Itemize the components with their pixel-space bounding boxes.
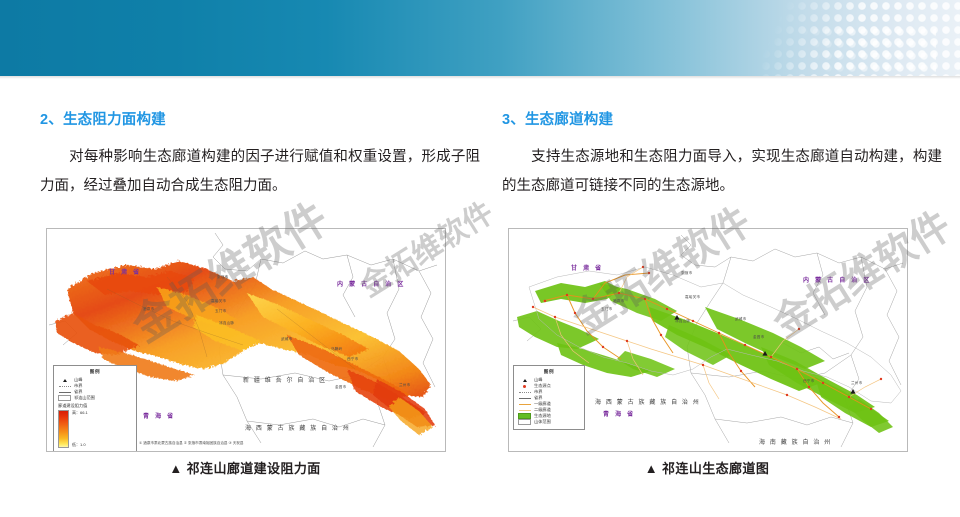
legend-color-ramp: 高：66.1 低：1.0 <box>58 410 132 448</box>
place-label: 乌鞘岭 <box>331 347 342 352</box>
region-label: 青 海 省 <box>143 411 175 420</box>
place-label: 金昌市 <box>753 335 764 340</box>
region-label: 海 西 蒙 古 族 藏 族 自 治 州 <box>245 423 350 432</box>
dashed-boundary-icon <box>58 386 71 387</box>
place-label: 张掖市 <box>217 275 228 280</box>
legend-title: 图例 <box>58 369 132 375</box>
section-right: 3、生态廊道构建 支持生态源地和生态阻力面导入，实现生态廊道自动构建，构建的生态… <box>502 112 942 201</box>
legend-item-label: 祁连山范围 <box>74 395 95 401</box>
caption-resistance-map: ▲ 祁连山廊道建设阻力面 <box>46 458 444 477</box>
place-label: 嘉峪关市 <box>211 299 226 304</box>
corridor-level2-icon <box>518 410 531 411</box>
place-label: 武威市 <box>735 317 746 322</box>
legend-title: 图例 <box>518 369 580 375</box>
map-legend-corridor: 图例 山峰 生态源点 市界 省界 一级廊道 二级廊道 生态源地 <box>513 365 585 430</box>
place-label: 张掖市 <box>681 271 692 276</box>
place-label: 嘉峪关市 <box>685 295 700 300</box>
map-legend-resistance: 图例 山峰 市界 省界 祁连山范围 廊道建设阻力值 高：66.1 低：1.0 <box>53 365 137 452</box>
region-label: 新 疆 维 吾 尔 自 治 区 <box>243 375 327 384</box>
map-resistance-surface[interactable]: 甘 肃 省 内 蒙 古 自 治 区 青 海 省 新 疆 维 吾 尔 自 治 区 … <box>46 228 446 452</box>
place-label: 兰州市 <box>851 381 862 386</box>
place-label: 祁连山脉 <box>219 321 234 326</box>
legend-item: 祁连山范围 <box>58 395 132 401</box>
eco-source-point-icon <box>518 385 531 388</box>
place-label: 西宁市 <box>803 379 814 384</box>
region-label: 内 蒙 古 自 治 区 <box>337 279 406 288</box>
solid-boundary-icon <box>58 392 71 393</box>
section-title-corridor: 3、生态廊道构建 <box>502 112 942 129</box>
section-body-resistance: 对每种影响生态廊道构建的因子进行赋值和权重设置，形成子阻力面，经过叠加自动合成生… <box>40 143 480 201</box>
section-body-text: 支持生态源地和生态阻力面导入，实现生态廊道自动构建，构建的生态廊道可链接不同的生… <box>502 149 942 194</box>
place-label: 金昌市 <box>335 385 346 390</box>
place-label: 玉门市 <box>601 307 612 312</box>
map-ecological-corridor[interactable]: 甘 肃 省 内 蒙 古 自 治 区 青 海 省 海 西 蒙 古 族 藏 族 自 … <box>508 228 908 452</box>
region-label: 海 西 蒙 古 族 藏 族 自 治 州 <box>595 397 700 406</box>
legend-item: 山体范围 <box>518 419 580 425</box>
halftone-dot-pattern-secondary-icon <box>786 26 936 76</box>
caption-corridor-map: ▲ 祁连山生态廊道图 <box>508 458 906 477</box>
place-label: 酒泉市 <box>613 299 624 304</box>
legend-ramp-title: 廊道建设阻力值 <box>58 403 132 408</box>
section-title-resistance: 2、生态阻力面构建 <box>40 112 480 129</box>
region-label: 内 蒙 古 自 治 区 <box>803 275 872 284</box>
section-body-corridor: 支持生态源地和生态阻力面导入，实现生态廊道自动构建，构建的生态廊道可链接不同的生… <box>502 143 942 201</box>
section-left: 2、生态阻力面构建 对每种影响生态廊道构建的因子进行赋值和权重设置，形成子阻力面… <box>40 112 480 201</box>
corridor-level1-icon <box>518 404 531 405</box>
dashed-boundary-icon <box>518 392 531 393</box>
area-extent-icon <box>58 395 71 401</box>
region-label: 甘 肃 省 <box>109 267 141 276</box>
region-label: 甘 肃 省 <box>571 263 603 272</box>
mountain-extent-icon <box>518 419 531 425</box>
resistance-gradient-bar <box>58 410 69 448</box>
place-label: 祁连山脉 <box>675 319 690 324</box>
mountain-peak-icon <box>58 379 71 382</box>
place-label: 酒泉市 <box>143 307 154 312</box>
legend-item-label: 山体范围 <box>534 419 551 425</box>
place-label: 武威市 <box>281 337 292 342</box>
region-label: 海 南 藏 族 自 治 州 <box>759 437 832 446</box>
place-label: 玉门市 <box>215 309 226 314</box>
top-blue-banner <box>0 0 960 76</box>
region-label: 青 海 省 <box>603 409 635 418</box>
place-label: 兰州市 <box>399 383 410 388</box>
banner-drop-shadow <box>0 76 960 79</box>
ramp-high-label: 高：66.1 <box>72 410 88 416</box>
mountain-peak-icon <box>518 379 531 382</box>
place-label: 西宁市 <box>347 357 358 362</box>
section-body-text: 对每种影响生态廊道构建的因子进行赋值和权重设置，形成子阻力面，经过叠加自动合成生… <box>40 149 480 194</box>
ramp-low-label: 低：1.0 <box>72 442 88 448</box>
map-credit-note: ① 酒泉市肃北蒙古族自治县 ② 张掖市肃南裕固族自治县 ③ 天祝县 <box>139 441 244 446</box>
solid-boundary-icon <box>518 398 531 399</box>
